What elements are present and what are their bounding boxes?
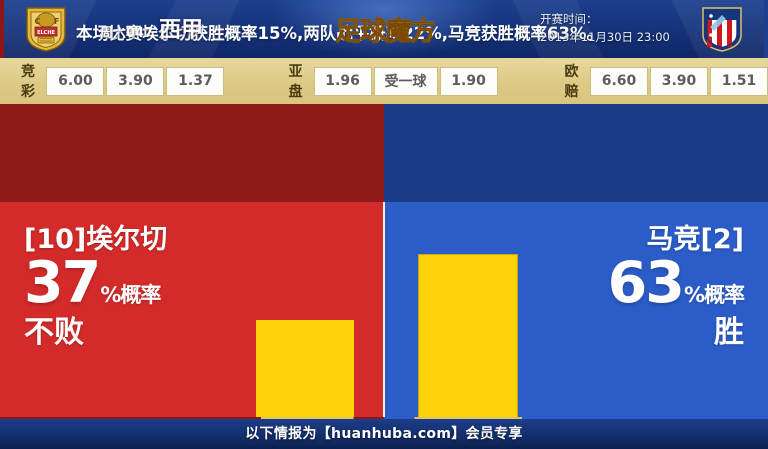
odds-group-label: 竞彩: [14, 61, 44, 101]
footer-notice-text: 以下情报为【huanhuba.com】会员专享: [245, 423, 522, 443]
probability-banner: [0, 104, 768, 202]
panel-divider: [383, 202, 385, 417]
svg-text:F: F: [54, 17, 59, 26]
away-probability-bar: [418, 254, 518, 417]
atletico-madrid-crest-icon: [700, 5, 744, 53]
footer-bar: 以下情报为【huanhuba.com】会员专享: [0, 417, 768, 449]
kickoff-value: 2013年11月30日 23:00: [540, 29, 670, 47]
handicap-value-home[interactable]: 1.96: [314, 67, 372, 96]
odds-value-draw[interactable]: 3.90: [106, 67, 164, 96]
odds-value-home[interactable]: 6.00: [46, 67, 104, 96]
odds-bar: 竞彩 6.00 3.90 1.37 亚盘 1.96 受一球 1.90 欧赔 6.…: [0, 58, 768, 104]
odds-group-jingcai: 竞彩 6.00 3.90 1.37: [14, 68, 224, 95]
home-probability-bar: [256, 320, 354, 417]
header-left-edge: [0, 0, 4, 58]
site-logo: 足球魔方: [322, 4, 448, 54]
home-probability-unit: %概率: [100, 279, 160, 309]
elche-cf-crest-icon: C F ELCHE: [24, 5, 68, 53]
kickoff-info: 开赛时间： 2013年11月30日 23:00: [540, 11, 670, 47]
probability-banner-right-half: [384, 104, 768, 202]
euro-odds-away[interactable]: 1.51: [710, 67, 768, 96]
header-bar: C F ELCHE 周六047 西甲 足球魔方 开赛时间： 2013年11月30…: [0, 0, 768, 58]
match-round-label: 周六047: [100, 22, 153, 41]
handicap-line[interactable]: 受一球: [374, 67, 438, 96]
home-probability-value: 37: [24, 255, 99, 312]
away-probability-value: 63: [608, 255, 683, 312]
euro-odds-home[interactable]: 6.60: [590, 67, 648, 96]
site-logo-text: 足球魔方: [335, 11, 435, 48]
home-outcome-label: 不败: [24, 316, 167, 349]
home-team-stats: [10]埃尔切 37 %概率 不败: [24, 226, 167, 349]
header-right-edge: [764, 0, 768, 58]
kickoff-label: 开赛时间：: [540, 11, 670, 29]
odds-group-label: 欧赔: [558, 61, 588, 101]
svg-text:C: C: [35, 17, 41, 26]
away-team-stats: 马竞[2] 63 %概率 胜: [608, 226, 744, 349]
match-league-label: 西甲: [159, 12, 203, 44]
away-probability-unit: %概率: [684, 279, 744, 309]
odds-value-away[interactable]: 1.37: [166, 67, 224, 96]
odds-group-oupei: 欧赔 6.60 3.90 1.51: [558, 68, 768, 95]
away-outcome-label: 胜: [608, 316, 744, 349]
odds-group-yapan: 亚盘 1.96 受一球 1.90: [281, 68, 497, 95]
match-probability-infographic: C F ELCHE 周六047 西甲 足球魔方 开赛时间： 2013年11月30…: [0, 0, 768, 449]
odds-group-label: 亚盘: [281, 61, 311, 101]
match-meta: 周六047 西甲: [100, 12, 203, 44]
handicap-value-away[interactable]: 1.90: [440, 67, 498, 96]
probability-banner-left-half: [0, 104, 384, 202]
euro-odds-draw[interactable]: 3.90: [650, 67, 708, 96]
svg-text:ELCHE: ELCHE: [37, 30, 55, 36]
